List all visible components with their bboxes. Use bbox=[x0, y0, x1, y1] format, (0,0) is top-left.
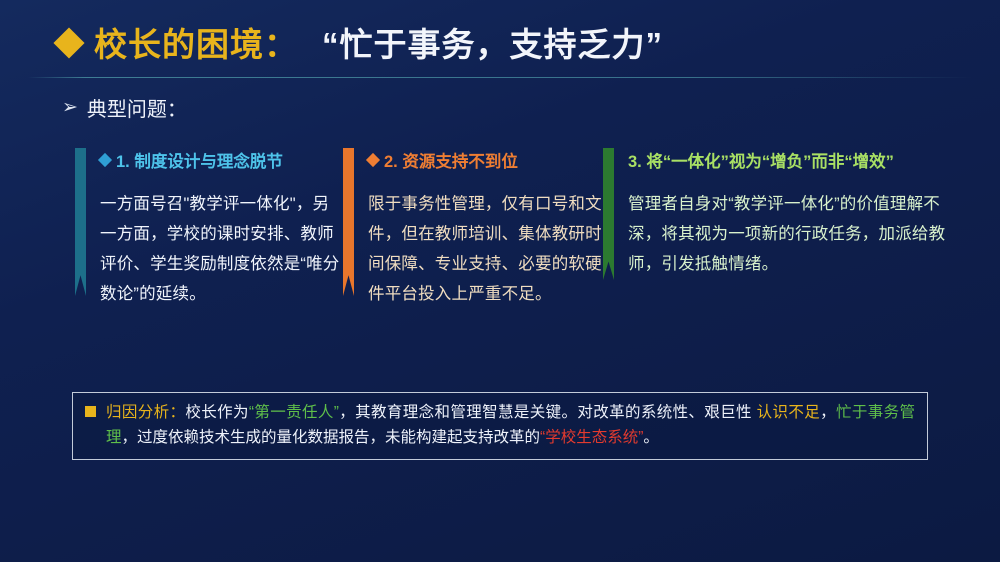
problem-heading-3: 3. 将“一体化”视为“增负”而非“增效” bbox=[628, 148, 951, 172]
analysis-segment-8: 。 bbox=[643, 429, 659, 446]
problem-heading-text-3: 3. 将“一体化”视为“增负”而非“增效” bbox=[628, 148, 894, 172]
analysis-segments: 校长作为“第一责任人”，其教育理念和管理智慧是关键。对改革的系统性、艰巨性 认识… bbox=[106, 404, 915, 446]
heading-diamond-icon-2 bbox=[366, 153, 380, 167]
problem-card-3: 3. 将“一体化”视为“增负”而非“增效” 管理者自身对“教学评一体化”的价值理… bbox=[603, 148, 951, 309]
analysis-segment-0: 校长作为 bbox=[185, 404, 248, 421]
problem-heading-text-2: 2. 资源支持不到位 bbox=[384, 148, 518, 172]
accent-ribbon-2 bbox=[343, 148, 354, 309]
problem-heading-2: 2. 资源支持不到位 bbox=[368, 148, 603, 172]
analysis-segment-6: ，过度依赖技术生成的量化数据报告，未能构建起支持改革的 bbox=[122, 429, 541, 446]
arrow-bullet-icon: ➢ bbox=[62, 98, 78, 117]
problem-card-1: 1. 制度设计与理念脱节 一方面号召"教学评一体化"，另一方面，学校的课时安排、… bbox=[75, 148, 343, 309]
problem-heading-text-1: 1. 制度设计与理念脱节 bbox=[116, 148, 283, 172]
problem-body-2: 限于事务性管理，仅有口号和文件，但在教师培训、集体教研时间保障、专业支持、必要的… bbox=[368, 189, 603, 309]
title-gold-text: 校长的困境： bbox=[94, 18, 298, 66]
problem-heading-1: 1. 制度设计与理念脱节 bbox=[100, 148, 343, 172]
analysis-segment-3: 认识不足 bbox=[757, 404, 820, 421]
problem-body-3: 管理者自身对“教学评一体化”的价值理解不深，将其视为一项新的行政任务，加派给教师… bbox=[628, 189, 951, 279]
analysis-segment-4: ， bbox=[820, 404, 836, 421]
problem-columns: 1. 制度设计与理念脱节 一方面号召"教学评一体化"，另一方面，学校的课时安排、… bbox=[75, 148, 955, 309]
analysis-label: 归因分析： bbox=[106, 404, 185, 421]
slide-root: 校长的困境： “忙于事务，支持乏力” ➢ 典型问题： 1. 制度设计与理念脱节 … bbox=[0, 0, 1000, 562]
analysis-callout-box: 归因分析：校长作为“第一责任人”，其教育理念和管理智慧是关键。对改革的系统性、艰… bbox=[72, 392, 928, 460]
analysis-segment-1: “第一责任人” bbox=[249, 404, 339, 421]
title-divider bbox=[28, 77, 972, 78]
accent-ribbon-1 bbox=[75, 148, 86, 309]
subheading-label: 典型问题： bbox=[87, 93, 187, 122]
problem-card-2: 2. 资源支持不到位 限于事务性管理，仅有口号和文件，但在教师培训、集体教研时间… bbox=[343, 148, 603, 309]
square-bullet-icon bbox=[85, 406, 96, 417]
analysis-segment-2: ，其教育理念和管理智慧是关键。对改革的系统性、艰巨性 bbox=[339, 404, 757, 421]
accent-ribbon-3 bbox=[603, 148, 614, 309]
subheading: ➢ 典型问题： bbox=[62, 93, 187, 122]
problem-body-1: 一方面号召"教学评一体化"，另一方面，学校的课时安排、教师评价、学生奖励制度依然… bbox=[100, 189, 343, 309]
heading-diamond-icon-1 bbox=[98, 153, 112, 167]
analysis-text: 归因分析：校长作为“第一责任人”，其教育理念和管理智慧是关键。对改革的系统性、艰… bbox=[106, 400, 915, 450]
analysis-segment-7: “学校生态系统” bbox=[540, 429, 643, 446]
title-white-text: “忙于事务，支持乏力” bbox=[322, 18, 663, 66]
title-diamond-icon bbox=[53, 27, 84, 58]
page-title: 校长的困境： “忙于事务，支持乏力” bbox=[58, 18, 663, 66]
